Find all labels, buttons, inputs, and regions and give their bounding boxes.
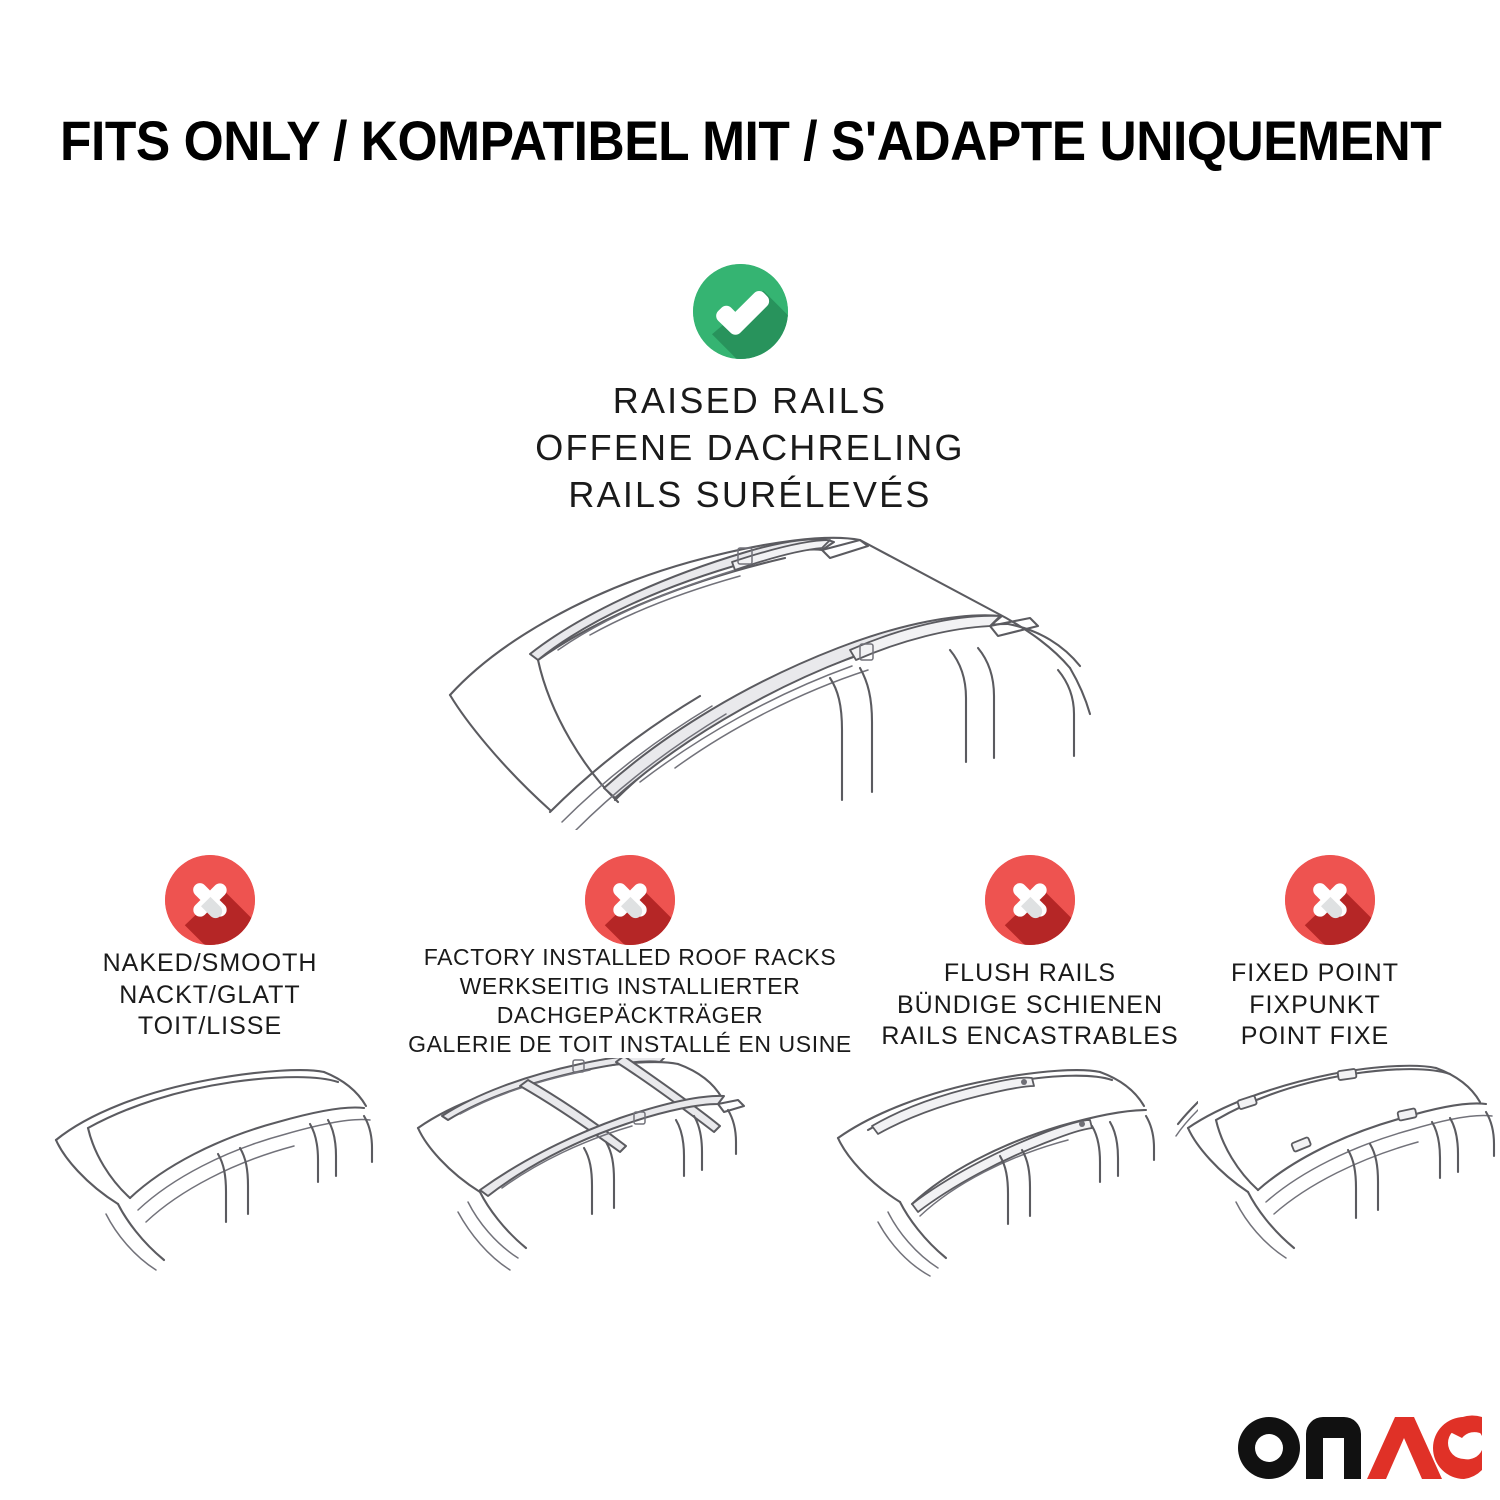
incompatible-1-line-1: NAKED/SMOOTH xyxy=(20,948,400,980)
car-roof-fixed-point-drawing xyxy=(1180,1062,1500,1277)
incompatible-4-line-1: FIXED POINT xyxy=(1150,958,1480,990)
incompatible-2-line-1: FACTORY INSTALLED ROOF RACKS xyxy=(400,943,860,972)
omac-logo xyxy=(1232,1408,1482,1484)
incompatible-label-4: FIXED POINT FIXPUNKT POINT FIXE xyxy=(1150,958,1480,1053)
x-circle-icon xyxy=(1285,855,1375,945)
car-roof-factory-racks-drawing xyxy=(408,1058,778,1278)
page-title: FITS ONLY / KOMPATIBEL MIT / S'ADAPTE UN… xyxy=(60,108,1440,173)
compatible-label-line-1: RAISED RAILS xyxy=(350,378,1150,425)
incompatible-label-1: NAKED/SMOOTH NACKT/GLATT TOIT/LISSE xyxy=(20,948,400,1043)
incompatible-4-line-3: POINT FIXE xyxy=(1150,1021,1480,1053)
x-circle-icon xyxy=(985,855,1075,945)
incompatible-1-line-3: TOIT/LISSE xyxy=(20,1011,400,1043)
car-roof-naked-smooth-drawing xyxy=(48,1062,398,1277)
check-circle-icon xyxy=(693,264,788,359)
incompatible-2-line-3: DACHGEPÄCKTRÄGER xyxy=(400,1001,860,1030)
incompatible-label-2: FACTORY INSTALLED ROOF RACKS WERKSEITIG … xyxy=(400,943,860,1059)
car-roof-flush-rails-drawing xyxy=(828,1062,1198,1277)
incompatible-2-line-4: GALERIE DE TOIT INSTALLÉ EN USINE xyxy=(400,1030,860,1059)
compatible-label-line-2: OFFENE DACHRELING xyxy=(350,425,1150,472)
incompatible-2-line-2: WERKSEITIG INSTALLIERTER xyxy=(400,972,860,1001)
compatible-label: RAISED RAILS OFFENE DACHRELING RAILS SUR… xyxy=(350,378,1150,518)
incompatible-4-line-2: FIXPUNKT xyxy=(1150,990,1480,1022)
fitment-infographic: FITS ONLY / KOMPATIBEL MIT / S'ADAPTE UN… xyxy=(0,0,1500,1500)
x-circle-icon xyxy=(165,855,255,945)
x-circle-icon xyxy=(585,855,675,945)
car-roof-raised-rails-drawing xyxy=(390,500,1130,830)
incompatible-1-line-2: NACKT/GLATT xyxy=(20,980,400,1012)
